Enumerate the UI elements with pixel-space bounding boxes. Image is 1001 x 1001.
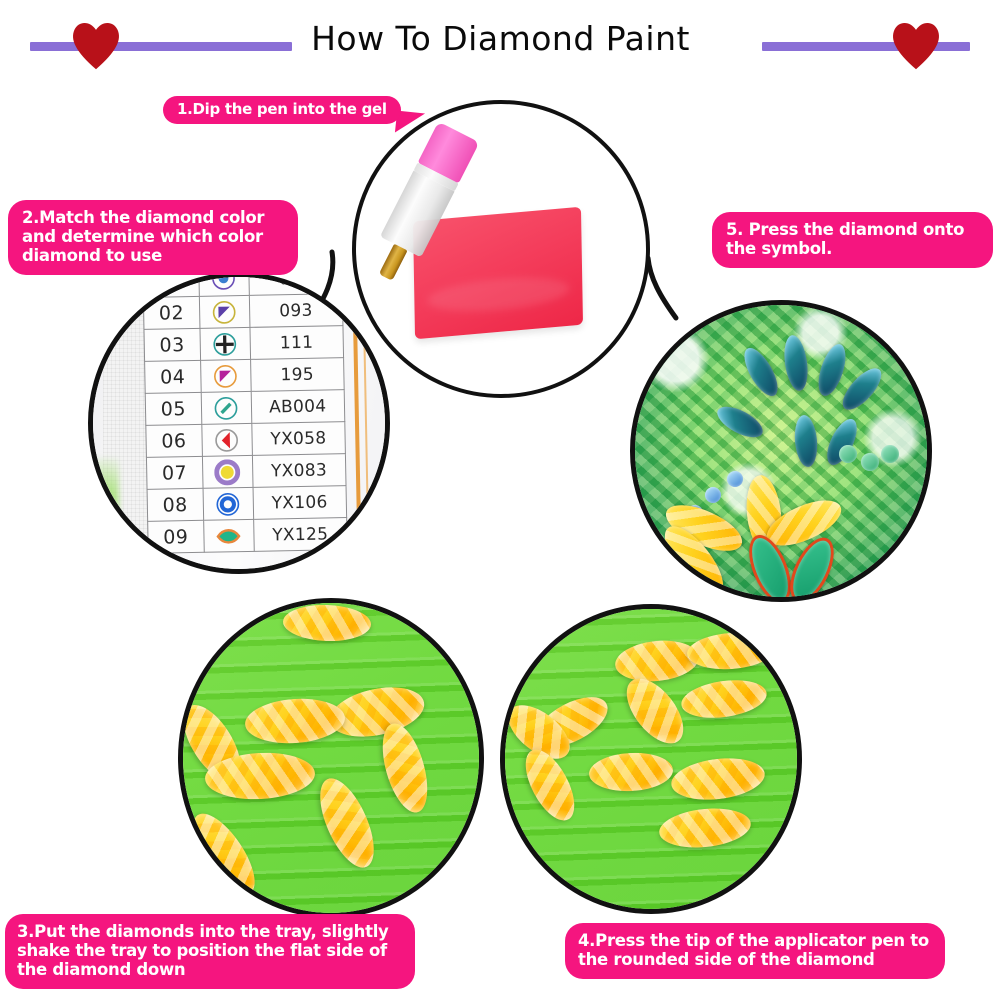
legend-color-name: 028	[248, 272, 342, 295]
step-5-photo	[630, 300, 932, 602]
legend-row: 03111	[144, 326, 344, 362]
step-5-label: 5. Press the diamond onto the symbol.	[712, 212, 993, 268]
legend-color-name: AB004	[251, 390, 345, 424]
step-1-label: 1.Dip the pen into the gel	[163, 96, 401, 124]
legend-color-name: YX106	[253, 486, 347, 520]
step-3-photo	[178, 598, 484, 918]
page-title: How To Diamond Paint	[0, 19, 1001, 58]
legend-code: 05	[145, 392, 201, 425]
open-circle-blue-icon	[203, 487, 254, 520]
legend-row: 08YX106	[147, 486, 347, 522]
step-2-scene: 02802093031110419505AB00406YX05807YX0830…	[93, 277, 385, 569]
smiley-blue-icon	[198, 272, 249, 296]
leaf-green-icon	[203, 519, 254, 552]
capsule-teal-icon	[201, 391, 252, 424]
pen-tip	[378, 244, 407, 281]
gem-dot	[881, 445, 899, 463]
legend-code: 08	[147, 488, 203, 521]
step-5-scene	[635, 305, 927, 597]
legend-color-name: YX083	[252, 454, 346, 488]
legend-color-name: 111	[250, 326, 344, 360]
plus-cross-icon	[200, 327, 251, 360]
legend-code: 04	[145, 360, 201, 393]
background-blur	[93, 457, 119, 567]
gem-dot	[861, 453, 879, 471]
legend-row: 04195	[145, 358, 345, 394]
triangle-magenta-icon	[200, 359, 251, 392]
triangle-purple-icon	[199, 295, 250, 328]
legend-row: 05AB004	[145, 390, 345, 426]
legend-row: 09YX125	[148, 518, 348, 554]
step-3-scene	[183, 603, 479, 913]
step-2-label: 2.Match the diamond color and determine …	[8, 200, 298, 275]
step-2-photo: 02802093031110419505AB00406YX05807YX0830…	[88, 272, 390, 574]
step-3-label: 3.Put the diamonds into the tray, slight…	[5, 914, 415, 989]
gel-pad	[413, 207, 583, 340]
legend-row: 02093	[143, 294, 343, 330]
step-4-scene	[505, 609, 797, 909]
legend-row: 06YX058	[146, 422, 346, 458]
step-4-label: 4.Press the tip of the applicator pen to…	[565, 923, 945, 979]
legend-code: 06	[146, 424, 202, 457]
arrow-left-red-icon	[201, 423, 252, 456]
legend-row: 07YX083	[146, 454, 346, 490]
page-header: How To Diamond Paint	[0, 0, 1001, 86]
step-4-photo	[500, 604, 802, 914]
gem-dot	[839, 445, 857, 463]
legend-color-name: 093	[249, 294, 343, 328]
legend-code: 03	[144, 328, 200, 361]
legend-code: 07	[146, 456, 202, 489]
legend-code: 09	[148, 520, 204, 553]
symbol-legend-table: 02802093031110419505AB00406YX05807YX0830…	[142, 272, 348, 554]
gem-dot	[705, 487, 721, 503]
step-1-scene	[356, 104, 646, 394]
legend-code	[143, 272, 199, 297]
legend-color-name: YX125	[253, 518, 347, 552]
legend-color-name: 195	[250, 358, 344, 392]
step-1-photo	[352, 100, 650, 398]
gem-dot	[727, 471, 743, 487]
legend-code: 02	[143, 296, 199, 329]
legend-color-name: YX058	[251, 422, 345, 456]
dot-in-ring-icon	[202, 455, 253, 488]
